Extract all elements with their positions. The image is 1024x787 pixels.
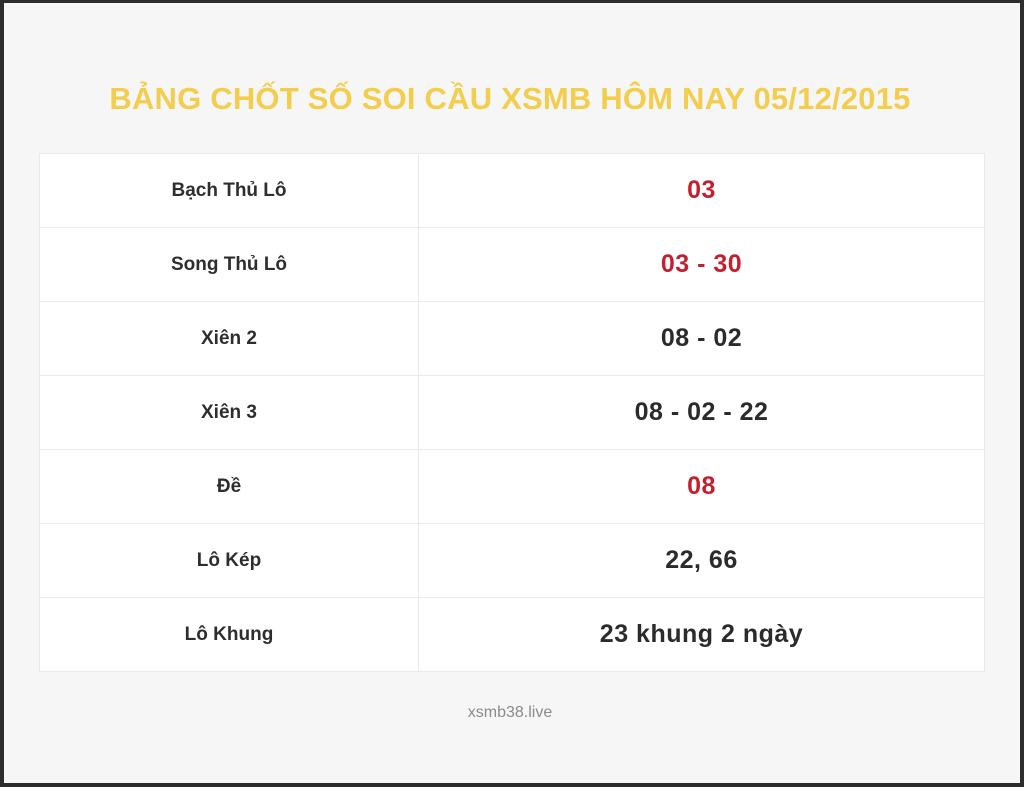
row-value-xien-2: 08 - 02 bbox=[419, 302, 984, 375]
row-value-xien-3: 08 - 02 - 22 bbox=[419, 376, 984, 449]
row-label-lo-khung: Lô Khung bbox=[40, 598, 419, 671]
row-value-bach-thu-lo: 03 bbox=[419, 154, 984, 227]
table-row: Lô Khung 23 khung 2 ngày bbox=[40, 598, 984, 672]
page-title: BẢNG CHỐT SỐ SOI CẦU XSMB HÔM NAY 05/12/… bbox=[4, 81, 1016, 117]
page-frame: BẢNG CHỐT SỐ SOI CẦU XSMB HÔM NAY 05/12/… bbox=[4, 3, 1020, 783]
row-label-song-thu-lo: Song Thủ Lô bbox=[40, 228, 419, 301]
table-row: Đề 08 bbox=[40, 450, 984, 524]
row-label-xien-2: Xiên 2 bbox=[40, 302, 419, 375]
row-value-lo-kep: 22, 66 bbox=[419, 524, 984, 597]
table-row: Xiên 3 08 - 02 - 22 bbox=[40, 376, 984, 450]
table-row: Xiên 2 08 - 02 bbox=[40, 302, 984, 376]
row-label-lo-kep: Lô Kép bbox=[40, 524, 419, 597]
prediction-table: Bạch Thủ Lô 03 Song Thủ Lô 03 - 30 Xiên … bbox=[39, 153, 985, 672]
table-row: Bạch Thủ Lô 03 bbox=[40, 154, 984, 228]
row-value-song-thu-lo: 03 - 30 bbox=[419, 228, 984, 301]
row-value-de: 08 bbox=[419, 450, 984, 523]
row-label-bach-thu-lo: Bạch Thủ Lô bbox=[40, 154, 419, 227]
row-label-de: Đề bbox=[40, 450, 419, 523]
table-row: Lô Kép 22, 66 bbox=[40, 524, 984, 598]
row-label-xien-3: Xiên 3 bbox=[40, 376, 419, 449]
table-row: Song Thủ Lô 03 - 30 bbox=[40, 228, 984, 302]
footer-site-name: xsmb38.live bbox=[4, 704, 1016, 722]
row-value-lo-khung: 23 khung 2 ngày bbox=[419, 598, 984, 671]
